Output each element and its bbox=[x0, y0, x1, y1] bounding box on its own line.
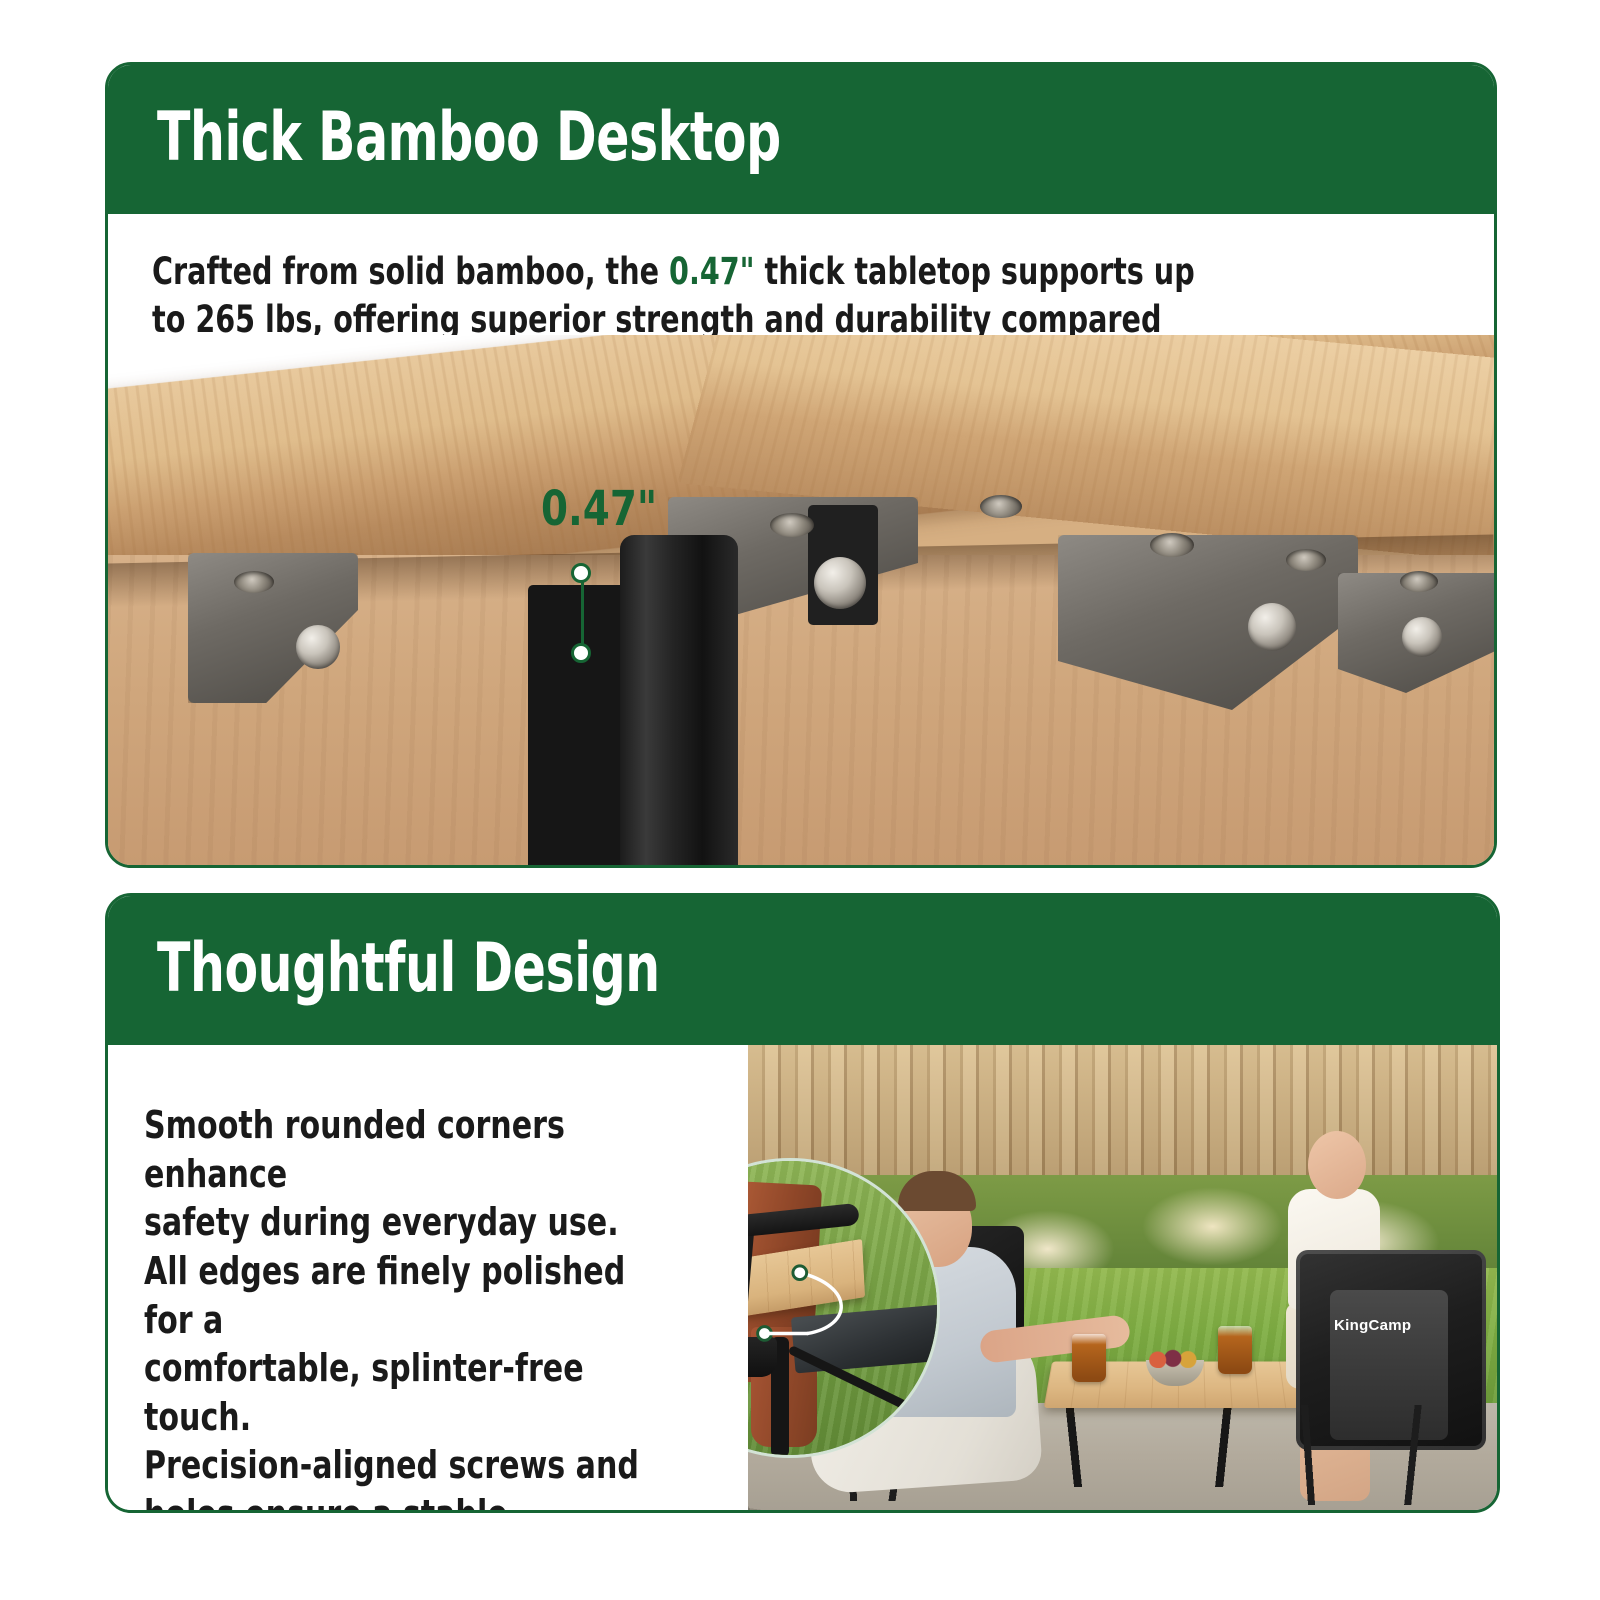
screw-hole-6 bbox=[1400, 571, 1438, 592]
screw-hole-5 bbox=[1286, 549, 1326, 571]
card2-content: Smooth rounded corners enhance safety du… bbox=[108, 1045, 1497, 1510]
feature-card-thick-bamboo-desktop: Thick Bamboo Desktop Crafted from solid … bbox=[105, 62, 1497, 868]
screw-hole-1 bbox=[234, 571, 274, 593]
page-title-thick-bamboo-desktop: Thick Bamboo Desktop bbox=[157, 104, 781, 172]
screw-hole-3 bbox=[980, 495, 1022, 518]
card2-text-column: Smooth rounded corners enhance safety du… bbox=[108, 1045, 748, 1510]
kingcamp-brand-logo: KingCamp bbox=[1334, 1317, 1411, 1334]
card-header-thoughtful-design: Thoughtful Design bbox=[105, 893, 1500, 1045]
iced-tea-glass-left bbox=[1072, 1334, 1106, 1382]
detail-zoom-inset bbox=[748, 1158, 940, 1458]
card-header-thick-bamboo-desktop: Thick Bamboo Desktop bbox=[105, 62, 1497, 214]
feature-card-thoughtful-design: Thoughtful Design Smooth rounded corners… bbox=[105, 893, 1500, 1513]
card1-text-before: Crafted from solid bamboo, the bbox=[152, 250, 669, 293]
rivet-3 bbox=[1248, 603, 1296, 651]
chair-right-legs bbox=[1294, 1405, 1497, 1505]
rivet-1 bbox=[296, 625, 340, 669]
woman-head bbox=[1308, 1131, 1366, 1199]
screw-hole-4 bbox=[1150, 533, 1194, 557]
card1-thickness-highlight: 0.47" bbox=[669, 250, 755, 293]
page-title-thoughtful-design: Thoughtful Design bbox=[157, 935, 660, 1003]
fruit-pieces bbox=[1148, 1348, 1202, 1368]
iced-tea-glass-right bbox=[1218, 1326, 1252, 1374]
inset-cup-holder bbox=[748, 1337, 777, 1377]
screw-hole-2 bbox=[770, 513, 814, 537]
bamboo-tabletop-photo bbox=[108, 335, 1494, 865]
table-leg-main bbox=[620, 535, 738, 865]
card2-description: Smooth rounded corners enhance safety du… bbox=[144, 1101, 656, 1513]
rivet-4 bbox=[1402, 617, 1442, 657]
lifestyle-photo: KingCamp bbox=[748, 1045, 1497, 1510]
rivet-2 bbox=[814, 557, 866, 609]
